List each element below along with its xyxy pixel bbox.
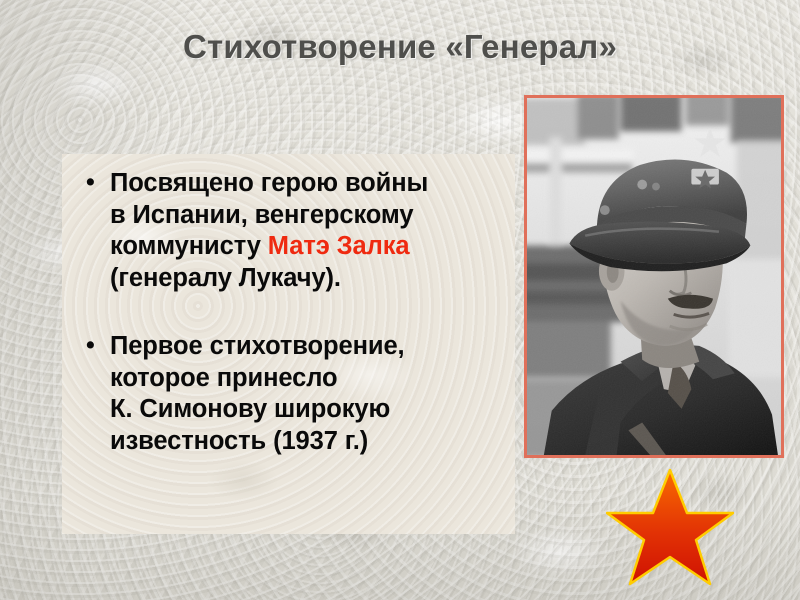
bullet-text: которое принесло	[110, 364, 337, 392]
bullet-text: (генералу Лукачу).	[110, 264, 341, 292]
bullet-line: (генералу Лукачу).	[110, 263, 505, 295]
content-panel: Посвящено герою войны в Испании, венгерс…	[62, 154, 515, 534]
red-star-icon	[606, 466, 734, 588]
bullet-text: К. Симонову широкую	[110, 395, 390, 423]
bullet-line: которое принесло	[110, 363, 505, 395]
portrait-photo-image	[527, 98, 781, 455]
bullet-line: коммунисту Матэ Залка	[110, 231, 505, 263]
bullet-text: Первое стихотворение,	[110, 332, 405, 360]
bullet-text: известность (1937 г.)	[110, 427, 368, 455]
bullet-text: в Испании, венгерскому	[110, 201, 413, 229]
bullet-text: коммунисту	[110, 232, 268, 260]
bullet-text: Посвящено герою войны	[110, 169, 428, 197]
bullet-line: Посвящено герою войны	[110, 168, 505, 200]
list-item: Первое стихотворение, которое принесло К…	[84, 331, 505, 458]
bullet-list: Посвящено герою войны в Испании, венгерс…	[62, 154, 515, 458]
list-item: Посвящено герою войны в Испании, венгерс…	[84, 168, 505, 295]
page-title: Стихотворение «Генерал»	[0, 28, 800, 66]
highlighted-name: Матэ Залка	[268, 232, 410, 260]
bullet-line: К. Симонову широкую	[110, 394, 505, 426]
bullet-line: в Испании, венгерскому	[110, 200, 505, 232]
portrait-photo	[524, 95, 784, 458]
slide: Стихотворение «Генерал» Посвящено герою …	[0, 0, 800, 600]
bullet-line: известность (1937 г.)	[110, 426, 505, 458]
bullet-line: Первое стихотворение,	[110, 331, 505, 363]
